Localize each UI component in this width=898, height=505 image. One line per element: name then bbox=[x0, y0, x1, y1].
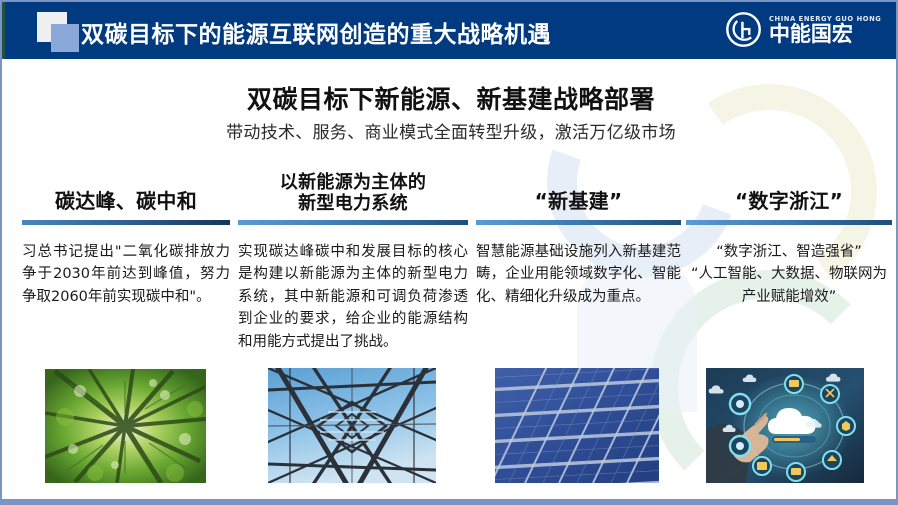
column-heading: “新基建” bbox=[476, 162, 681, 214]
column-carbon-peak: 碳达峰、碳中和 习总书记提出"二氧化碳排放力争于2030年前达到峰值，努力争取2… bbox=[22, 162, 230, 308]
column-heading: “数字浙江” bbox=[686, 162, 892, 214]
column-body-text: 习总书记提出"二氧化碳排放力争于2030年前达到峰值，努力争取2060年前实现碳… bbox=[22, 241, 230, 308]
forest-canopy-photo bbox=[45, 369, 206, 483]
solar-panel-photo bbox=[495, 368, 659, 483]
column-new-power-system: 以新能源为主体的 新型电力系统 实现碳达峰碳中和发展目标的核心是构建以新能源为主… bbox=[238, 162, 468, 353]
column-heading: 以新能源为主体的 新型电力系统 bbox=[238, 162, 468, 214]
column-body-text: “数字浙江、智造强省” “人工智能、大数据、物联网为产业赋能增效” bbox=[686, 241, 892, 308]
logo-emblem-icon bbox=[725, 11, 762, 48]
header-title: 双碳目标下的能源互联网创造的重大战略机遇 bbox=[81, 15, 551, 49]
column-underline bbox=[686, 220, 892, 225]
page-subtitle: 带动技术、服务、商业模式全面转型升级，激活万亿级市场 bbox=[2, 118, 898, 143]
transmission-tower-photo bbox=[268, 368, 436, 483]
logo-english-text: CHINA ENERGY GUO HONG bbox=[769, 15, 881, 23]
header-square-blue bbox=[51, 24, 79, 52]
column-digital-zhejiang: “数字浙江” “数字浙江、智造强省” “人工智能、大数据、物联网为产业赋能增效” bbox=[686, 162, 892, 308]
bottom-accent-bar bbox=[2, 499, 898, 503]
page-title: 双碳目标下新能源、新基建战略部署 bbox=[2, 80, 898, 116]
column-heading: 碳达峰、碳中和 bbox=[22, 162, 230, 214]
column-underline bbox=[22, 220, 230, 225]
column-new-infrastructure: “新基建” 智慧能源基础设施列入新基建范畴，企业用能领域数字化、智能化、精细化升… bbox=[476, 162, 681, 308]
cloud-computing-photo bbox=[706, 368, 864, 483]
company-logo: CHINA ENERGY GUO HONG 中能国宏 bbox=[725, 11, 886, 48]
logo-chinese-text: 中能国宏 bbox=[769, 24, 886, 45]
column-body-text: 智慧能源基础设施列入新基建范畴，企业用能领域数字化、智能化、精细化升级成为重点。 bbox=[476, 241, 681, 308]
column-underline bbox=[476, 220, 681, 225]
column-body-text: 实现碳达峰碳中和发展目标的核心是构建以新能源为主体的新型电力系统，其中新能源和可… bbox=[238, 241, 468, 353]
slide: 双碳目标下的能源互联网创造的重大战略机遇 CHINA ENERGY GUO HO… bbox=[0, 0, 898, 505]
slide-header: 双碳目标下的能源互联网创造的重大战略机遇 CHINA ENERGY GUO HO… bbox=[2, 2, 898, 59]
column-underline bbox=[238, 220, 468, 225]
